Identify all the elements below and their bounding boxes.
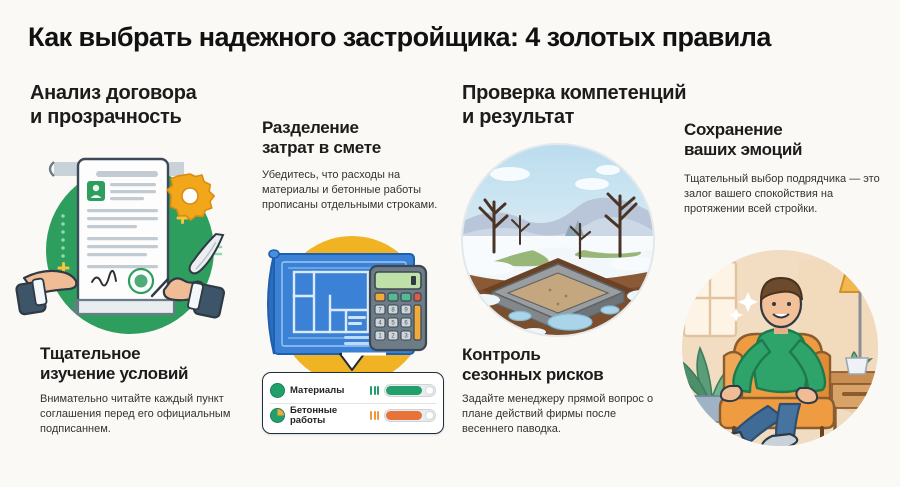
materials-toggle[interactable] [384,384,436,397]
body-study-terms: Внимательно читайте каждый пункт соглаше… [40,392,236,438]
foundation-thaw-illustration [458,140,658,340]
legend-label-materials: Материалы [290,386,365,396]
contract-signing-illustration [18,150,246,350]
body-cost-breakdown: Убедитесь, что расходы на материалы и бе… [262,168,438,214]
legend-row-materials[interactable]: Материалы [270,378,436,403]
body-emotional-safety: Тщательный выбор подрядчика — это залог … [684,172,880,218]
concrete-toggle[interactable] [384,409,436,422]
heading-contract-analysis: Анализ договора и прозрачность [30,82,240,129]
materials-circle-icon [270,383,285,398]
heading-emotional-safety: Сохранение ваших эмоций [684,120,884,160]
heading-cost-breakdown: Разделение затрат в смете [262,118,442,158]
heading-seasonal-risk: Контроль сезонных рисков [462,345,662,385]
legend-label-concrete: Бетонные работы [290,406,365,426]
cost-legend-card[interactable]: Материалы Бетонные работы [262,372,444,434]
heading-study-terms: Тщательное изучение условий [40,344,250,384]
page-title: Как выбрать надежного застройщика: 4 зол… [28,22,878,53]
heading-competence-check: Проверка компетенций и результат [462,82,712,129]
concrete-ticks-icon [370,411,379,420]
relaxed-man-armchair-illustration [672,248,892,456]
body-seasonal-risk: Задайте менеджеру прямой вопрос о плане … [462,392,654,438]
concrete-pie-icon [270,408,285,423]
legend-row-concrete[interactable]: Бетонные работы [270,403,436,428]
infographic-canvas: Как выбрать надежного застройщика: 4 зол… [0,0,900,487]
materials-ticks-icon [370,386,379,395]
blueprint-calculator-illustration: 789 456 123 [252,238,452,388]
